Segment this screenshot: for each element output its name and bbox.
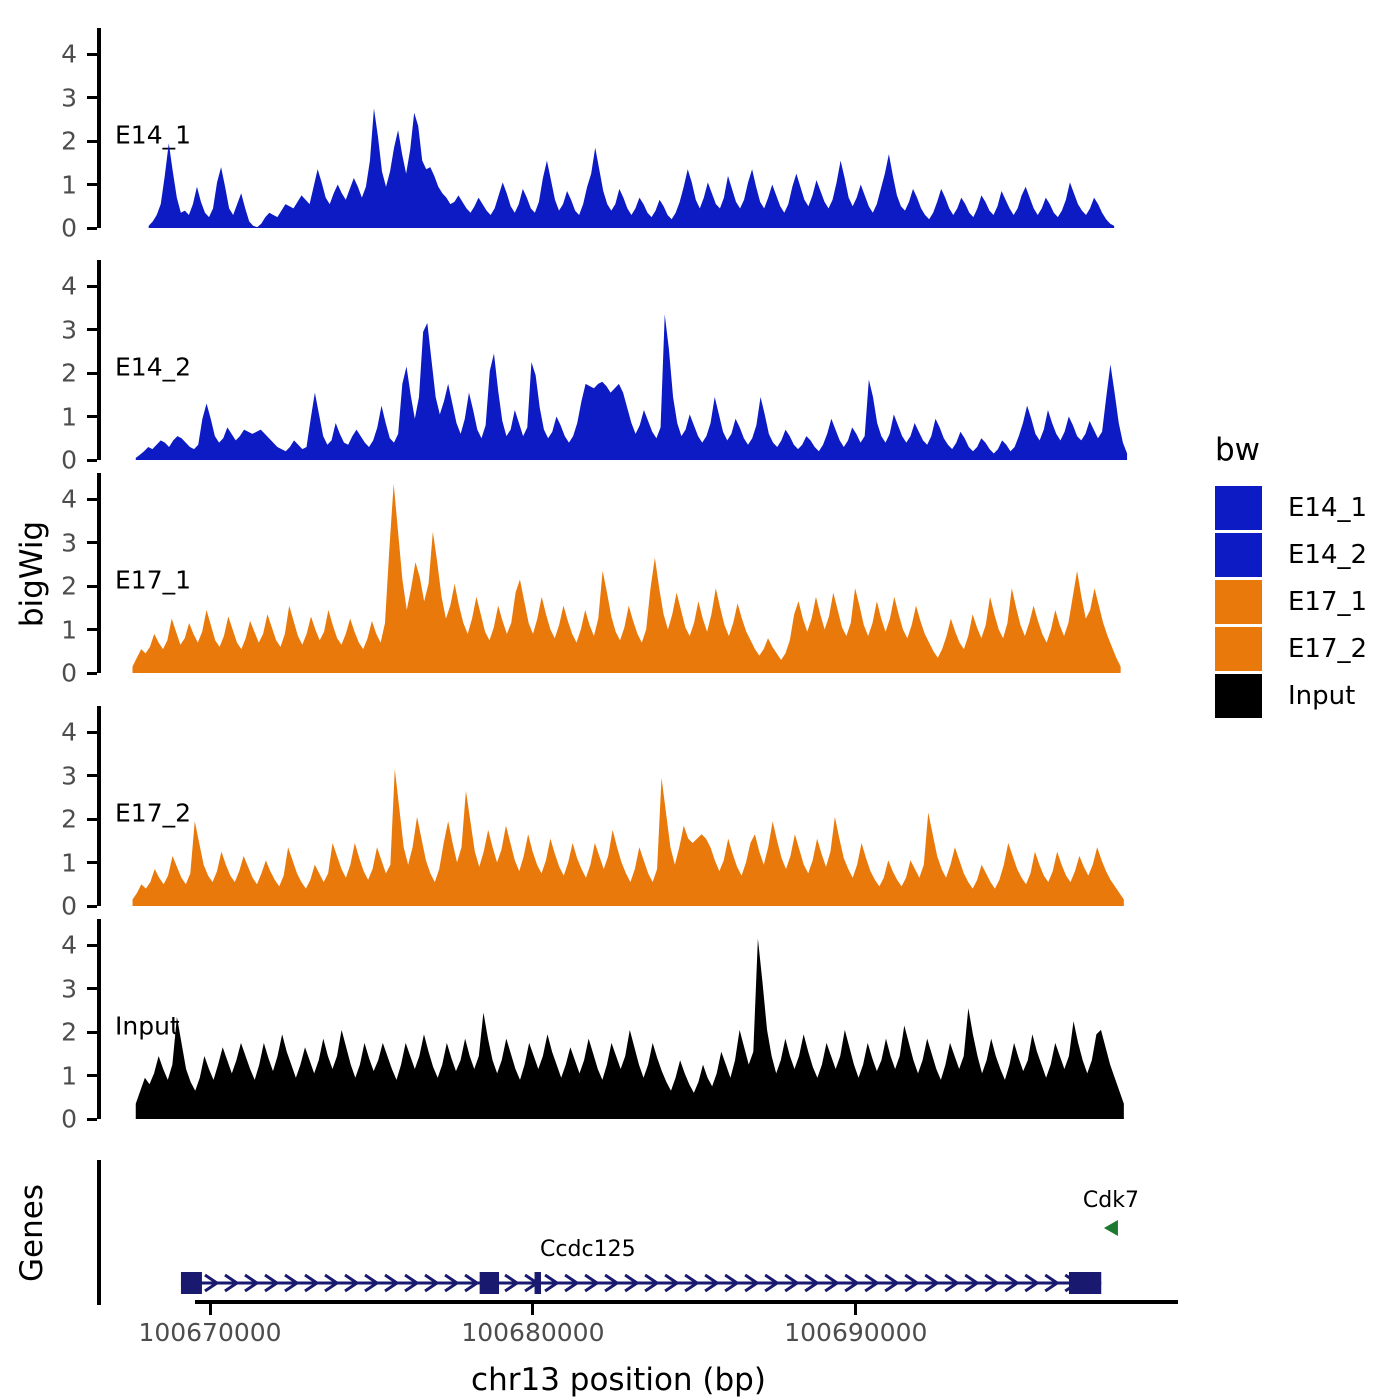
y-tick-label: 3 [61,528,77,557]
legend-item-e14_2[interactable]: E14_2 [1215,531,1367,578]
track-waveform-e14_2 [97,260,1140,460]
x-tick-label: 100670000 [138,1318,281,1347]
y-tick-label: 4 [61,272,77,301]
legend-item-input[interactable]: Input [1215,672,1367,719]
y-tick-label: 3 [61,315,77,344]
legend-label: E14_2 [1288,540,1367,570]
legend-item-e17_1[interactable]: E17_1 [1215,578,1367,625]
x-axis-line [195,1300,1178,1304]
x-tick-mark [854,1304,857,1315]
y-tick-mark [87,541,97,544]
y-tick-label: 3 [61,974,77,1003]
y-tick-label: 0 [61,659,77,688]
y-tick-label: 0 [61,214,77,243]
y-tick-mark [87,1074,97,1077]
y-tick-label: 1 [61,615,77,644]
y-tick-mark [87,861,97,864]
y-tick-mark [87,944,97,947]
y-tick-mark [87,987,97,990]
legend-item-e17_2[interactable]: E17_2 [1215,625,1367,672]
y-tick-label: 1 [61,402,77,431]
y-tick-mark [87,905,97,908]
y-tick-mark [87,1118,97,1121]
y-tick-mark [87,227,97,230]
legend-swatch-e14_1 [1215,486,1262,530]
y-tick-mark [87,628,97,631]
genes-panel: Ccdc125Cdk7 [97,1160,1140,1305]
legend-item-e14_1[interactable]: E14_1 [1215,484,1367,531]
y-tick-label: 2 [61,359,77,388]
y-tick-mark [87,415,97,418]
y-axis-title-bigwig: bigWig [14,514,50,634]
y-tick-mark [87,372,97,375]
y-tick-label: 2 [61,1018,77,1047]
y-tick-label: 2 [61,805,77,834]
y-tick-mark [87,731,97,734]
y-tick-mark [87,672,97,675]
legend-title: bw [1215,432,1367,468]
legend-label: E17_1 [1288,587,1367,617]
x-axis-title: chr13 position (bp) [97,1362,1140,1398]
y-tick-mark [87,140,97,143]
bigwig-panel-input: 01234Input [97,919,1140,1119]
y-tick-mark [87,328,97,331]
y-tick-label: 0 [61,1105,77,1134]
track-waveform-e17_2 [97,706,1140,906]
y-tick-label: 2 [61,127,77,156]
y-tick-label: 4 [61,931,77,960]
y-tick-label: 3 [61,761,77,790]
legend-swatch-e17_1 [1215,580,1262,624]
y-tick-label: 1 [61,848,77,877]
y-tick-mark [87,459,97,462]
bigwig-panel-e17_1: 01234E17_1 [97,473,1140,673]
y-tick-mark [87,774,97,777]
legend-swatch-e17_2 [1215,627,1262,671]
legend: bw E14_1E14_2E17_1E17_2Input [1215,432,1367,719]
x-axis: 100670000100680000100690000 [0,0,1400,100]
y-tick-label: 4 [61,485,77,514]
x-tick-mark [209,1304,212,1315]
y-tick-mark [87,1031,97,1034]
y-tick-label: 1 [61,1061,77,1090]
gene-models [97,1160,1140,1305]
y-tick-label: 0 [61,446,77,475]
x-tick-label: 100680000 [461,1318,604,1347]
y-tick-label: 1 [61,170,77,199]
legend-swatch-e14_2 [1215,533,1262,577]
legend-swatch-input [1215,674,1262,718]
y-tick-label: 2 [61,572,77,601]
track-waveform-input [97,919,1140,1119]
bigwig-panel-e17_2: 01234E17_2 [97,706,1140,906]
bigwig-panel-e14_2: 01234E14_2 [97,260,1140,460]
y-tick-label: 4 [61,718,77,747]
y-tick-label: 0 [61,892,77,921]
y-tick-mark [87,183,97,186]
x-tick-label: 100690000 [784,1318,927,1347]
y-axis-title-genes: Genes [14,1173,50,1293]
legend-label: Input [1288,681,1355,711]
y-tick-mark [87,285,97,288]
x-tick-mark [531,1304,534,1315]
y-tick-mark [87,498,97,501]
y-tick-mark [87,585,97,588]
legend-label: E14_1 [1288,493,1367,523]
y-tick-mark [87,818,97,821]
legend-label: E17_2 [1288,634,1367,664]
track-waveform-e17_1 [97,473,1140,673]
